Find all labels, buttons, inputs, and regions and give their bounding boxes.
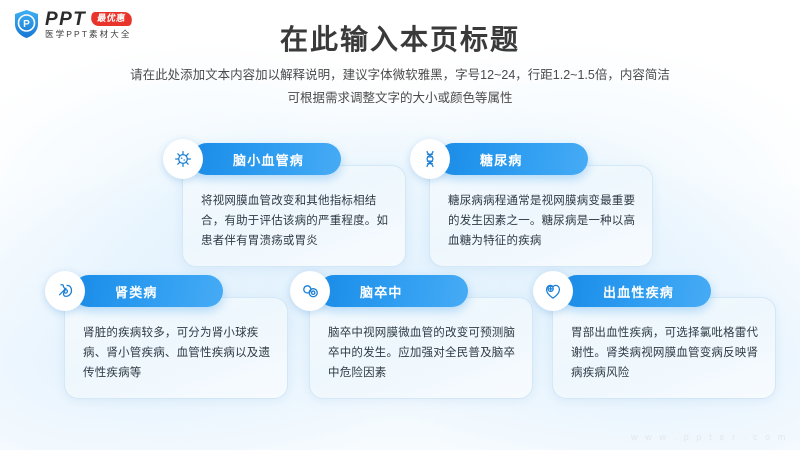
card-description: 胃部出血性疾病，可选择氯吡格雷代谢性。肾类病视网膜血管变病反映肾病疾病风险 [571, 324, 759, 383]
page-subtitle: 请在此处添加文本内容加以解释说明，建议字体微软雅黑，字号12~24，行距1.2~… [96, 64, 704, 110]
page-title: 在此输入本页标题 [0, 18, 800, 58]
dna-helix-icon [410, 139, 450, 179]
site-watermark: w w w . p p t e r . c o m [631, 432, 788, 442]
card-description: 糖尿病病程通常是视网膜病变最重要的发生因素之一。糖尿病是一种以高血糖为特征的疾病 [448, 192, 636, 251]
card-description: 肾脏的疾病较多，可分为肾小球疾病、肾小管疾病、血管性疾病以及遗传性疾病等 [83, 324, 271, 383]
virus-cell-icon [163, 139, 203, 179]
card-description: 将视网膜血管改变和其他指标相结合，有助于评估该病的严重程度。如患者伴有胃溃疡或胃… [201, 192, 389, 251]
card-body: 将视网膜血管改变和其他指标相结合，有助于评估该病的严重程度。如患者伴有胃溃疡或胃… [182, 165, 406, 267]
card-title-label: 肾类病 [115, 282, 158, 301]
slide-canvas: P PPT 最优惠 医学PPT素材大全 在此输入本页标题 请在此处添加文本内容加… [0, 0, 800, 450]
page-subtitle-line-2: 可根据需求调整文字的大小或颜色等属性 [96, 87, 704, 110]
heart-shield-plus-icon [533, 271, 573, 311]
cells-pair-icon [290, 271, 330, 311]
card-body: 胃部出血性疾病，可选择氯吡格雷代谢性。肾类病视网膜血管变病反映肾病疾病风险 [552, 297, 776, 399]
card-title-label: 脑卒中 [360, 282, 403, 301]
card-body: 脑卒中视网膜微血管的改变可预测脑卒中的发生。应加强对全民普及脑卒中危险因素 [309, 297, 533, 399]
card-title-pill[interactable]: 肾类病 [73, 275, 223, 307]
page-subtitle-line-1: 请在此处添加文本内容加以解释说明，建议字体微软雅黑，字号12~24，行距1.2~… [96, 64, 704, 87]
card-body: 糖尿病病程通常是视网膜病变最重要的发生因素之一。糖尿病是一种以高血糖为特征的疾病 [429, 165, 653, 267]
card-title-pill[interactable]: 脑小血管病 [191, 143, 341, 175]
kidney-icon [45, 271, 85, 311]
card-title-label: 出血性疾病 [603, 282, 674, 301]
card-title-pill[interactable]: 脑卒中 [318, 275, 468, 307]
card-title-label: 糖尿病 [480, 150, 523, 169]
card-title-pill[interactable]: 出血性疾病 [561, 275, 711, 307]
card-title-label: 脑小血管病 [233, 150, 304, 169]
card-title-pill[interactable]: 糖尿病 [438, 143, 588, 175]
card-description: 脑卒中视网膜微血管的改变可预测脑卒中的发生。应加强对全民普及脑卒中危险因素 [328, 324, 516, 383]
card-body: 肾脏的疾病较多，可分为肾小球疾病、肾小管疾病、血管性疾病以及遗传性疾病等 [64, 297, 288, 399]
